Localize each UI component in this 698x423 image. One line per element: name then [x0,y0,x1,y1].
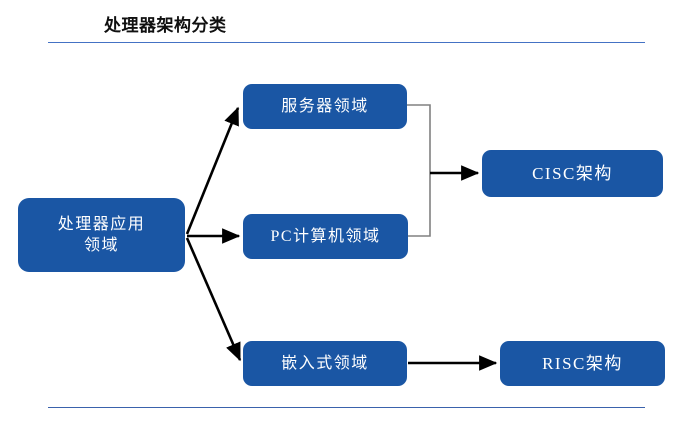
node-cisc-architecture[interactable]: CISC架构 [482,150,663,197]
node-pc-computer-domain[interactable]: PC计算机领域 [243,214,408,259]
node-label-line1: 处理器应用 [58,216,146,233]
node-label: 服务器领域 [281,96,369,117]
title-divider [48,42,645,43]
node-processor-application-domain[interactable]: 处理器应用 领域 [18,198,185,272]
slide-canvas: 处理器架构分类 处理器应用 领域 服务器领域 PC计算机领域 [0,0,698,423]
footer-divider [48,407,645,408]
edge-root-to-server [187,108,238,234]
bracket-server-pc [407,105,430,236]
node-label: 嵌入式领域 [281,353,369,374]
node-label: CISC架构 [532,163,613,184]
node-risc-architecture[interactable]: RISC架构 [500,341,665,386]
node-label: RISC架构 [542,353,623,374]
page-title: 处理器架构分类 [104,16,227,36]
edge-root-to-embedded [187,238,240,360]
node-label-line2: 领域 [84,237,119,254]
node-label: PC计算机领域 [270,226,380,247]
node-embedded-domain[interactable]: 嵌入式领域 [243,341,407,386]
node-server-domain[interactable]: 服务器领域 [243,84,407,129]
node-label: 处理器应用 领域 [58,214,146,256]
